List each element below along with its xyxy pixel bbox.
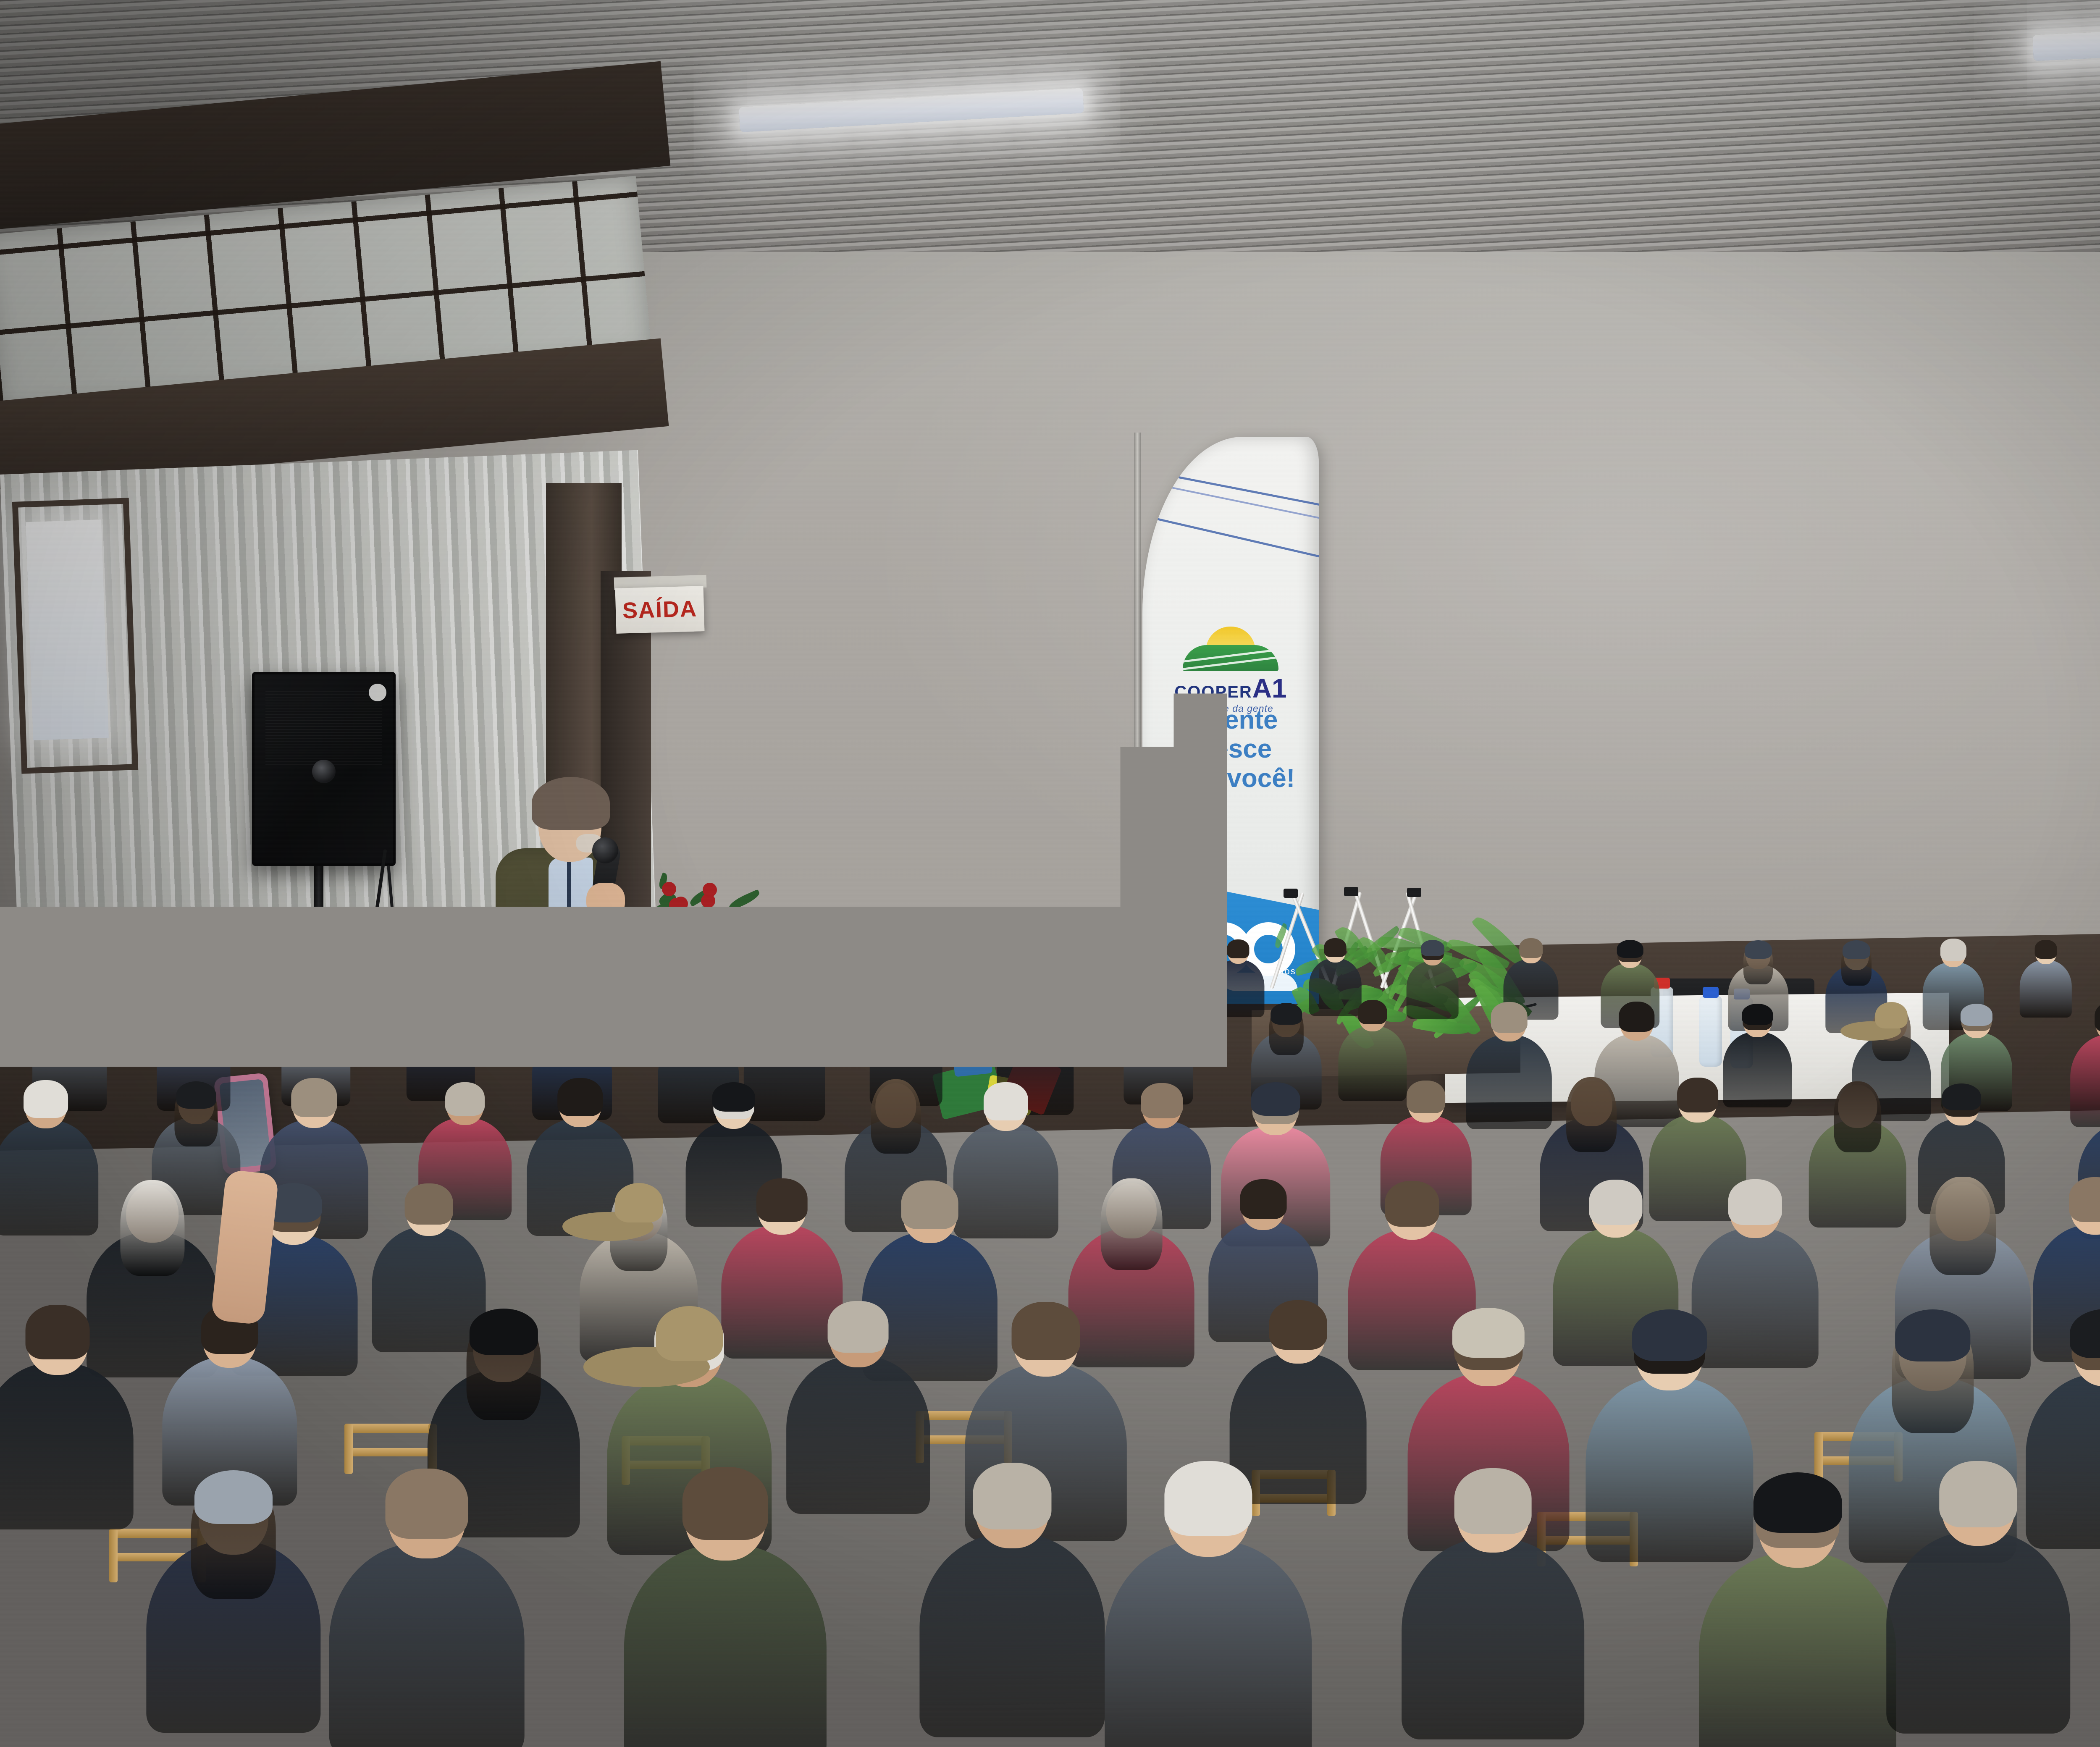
audience-hair[interactable] (422, 939, 449, 962)
audience-hair[interactable] (1940, 939, 1966, 961)
speaker-badge (369, 684, 386, 701)
audience-hair[interactable] (1407, 1081, 1445, 1113)
baseball-cap[interactable] (1745, 940, 1772, 959)
shirt-crest-icon[interactable] (1735, 707, 1746, 713)
baseball-cap[interactable] (1617, 940, 1643, 958)
audience-member[interactable] (2020, 941, 2072, 1022)
audience-hair[interactable] (323, 940, 346, 960)
audience-member[interactable] (329, 1473, 525, 1747)
audience-hair[interactable] (426, 1000, 455, 1025)
audience-member[interactable] (1402, 1472, 1585, 1747)
member-hair[interactable] (1718, 658, 1743, 674)
rose-bloom[interactable] (669, 898, 683, 912)
audience-hair[interactable] (1240, 1179, 1286, 1219)
audience-torso[interactable] (1886, 1532, 2070, 1734)
audience-hair[interactable] (901, 1180, 959, 1229)
hill-field-icon (1183, 645, 1278, 671)
audience-member[interactable] (624, 1472, 827, 1747)
audience-hair[interactable] (1589, 1180, 1642, 1225)
audience-hair[interactable] (1227, 939, 1249, 958)
pa-speaker-icon (252, 672, 396, 866)
audience-hair[interactable] (120, 1180, 184, 1276)
member-trousers[interactable] (1712, 758, 1751, 778)
slide-body-text: O conselho de Administração é orgão supe… (2022, 356, 2100, 492)
frame-joint[interactable] (1284, 889, 1298, 898)
audience-hair[interactable] (1454, 1468, 1532, 1534)
audience-torso[interactable] (1406, 961, 1459, 1019)
member-trousers[interactable] (2092, 757, 2100, 776)
chair-rail[interactable] (344, 1424, 437, 1433)
audience-hair[interactable] (2035, 940, 2057, 959)
baseball-cap[interactable] (712, 1082, 756, 1112)
member-shirt[interactable] (1750, 666, 1805, 758)
audience-hair[interactable] (1491, 1002, 1528, 1033)
baseball-cap[interactable] (516, 939, 541, 956)
audience-hair[interactable] (973, 1463, 1051, 1529)
frame-joint[interactable] (1407, 888, 1421, 897)
banner-slogan: A gente cresce com você! (1142, 706, 1319, 793)
audience-hair[interactable] (26, 1305, 90, 1359)
speaker-grille (265, 690, 382, 765)
audience-hair[interactable] (2095, 1002, 2100, 1032)
audience-hair[interactable] (1939, 1461, 2017, 1527)
audience-hair[interactable] (1324, 938, 1347, 957)
audience-hair[interactable] (1269, 1300, 1327, 1350)
audience-hair[interactable] (555, 1002, 589, 1031)
audience-hair[interactable] (1141, 1083, 1183, 1119)
audience-hair[interactable] (445, 1082, 485, 1116)
audience-member[interactable] (1466, 1004, 1552, 1136)
slogan-line-1: A gente (1142, 706, 1319, 734)
audience-hair[interactable] (679, 1002, 718, 1061)
audience-torso[interactable] (0, 1120, 98, 1235)
audience-hair[interactable] (871, 1079, 921, 1154)
audience-hair[interactable] (226, 939, 257, 986)
board-member[interactable] (2084, 650, 2100, 776)
audience-torso[interactable] (2020, 960, 2072, 1018)
baseball-cap[interactable] (300, 1002, 331, 1023)
audience-hair[interactable] (1566, 1077, 1617, 1152)
audience-hair[interactable] (1728, 1179, 1782, 1225)
boardroom-meeting-icon (1588, 359, 1623, 395)
banner-swoosh (1142, 509, 1319, 564)
board-group-photo-right (1995, 477, 2100, 776)
baseball-cap[interactable] (1942, 1083, 1981, 1110)
audience-hair[interactable] (24, 1080, 68, 1118)
wooden-chair[interactable] (344, 1424, 437, 1474)
audience-hair[interactable] (1012, 1302, 1080, 1360)
audience-hair[interactable] (1032, 936, 1060, 978)
slide-left-panel: CONSELHO DE ADMINISTRAÇÃO 2024/2028 (1573, 331, 1999, 778)
member-trousers[interactable] (1757, 755, 1799, 778)
cooper-a1-logo: COOPERA1 faz parte da gente (1142, 627, 1319, 714)
table-icon (1596, 378, 1614, 389)
brand-name: COOPER (1174, 683, 1252, 701)
figure-head-icon (1602, 363, 1609, 371)
baseball-cap[interactable] (1632, 1309, 1707, 1361)
window-frame (12, 498, 138, 774)
audience-hair[interactable] (178, 1002, 209, 1028)
audience-hair[interactable] (1019, 1001, 1052, 1029)
audience-hair[interactable] (1144, 1001, 1173, 1026)
audience-hair[interactable] (2069, 1177, 2100, 1222)
audience-hair[interactable] (1619, 1002, 1654, 1032)
rose-bloom[interactable] (662, 882, 676, 896)
member-hair[interactable] (1593, 687, 1612, 699)
member-hair[interactable] (2014, 642, 2043, 659)
baseball-cap[interactable] (129, 939, 157, 958)
hat-crown[interactable] (811, 940, 835, 960)
chair-rail[interactable] (344, 1448, 437, 1456)
slogan-line-2: cresce (1142, 734, 1319, 763)
audience-member[interactable] (1699, 1481, 1896, 1747)
audience-torso[interactable] (0, 957, 37, 1015)
figure-head-icon (1592, 370, 1598, 376)
baseball-cap[interactable] (1961, 1004, 1992, 1026)
baseball-cap[interactable] (1753, 1472, 1842, 1533)
audience-member[interactable] (1886, 1465, 2070, 1747)
audience-member[interactable] (1105, 1466, 1312, 1747)
audience-torso[interactable] (624, 1545, 827, 1747)
brand-wordmark: COOPERA1 (1142, 673, 1319, 704)
rose-bloom[interactable] (703, 883, 717, 897)
audience-hair[interactable] (1930, 1177, 1996, 1275)
audience-torso[interactable] (919, 1534, 1105, 1737)
baseball-cap[interactable] (1251, 1082, 1300, 1116)
audience-hair[interactable] (0, 937, 22, 956)
baseball-cap[interactable] (712, 940, 740, 959)
slogan-line-3: com você! (1142, 764, 1319, 793)
audience-hair[interactable] (767, 1000, 801, 1029)
audience-hair[interactable] (54, 1000, 85, 1027)
audience-hair[interactable] (1164, 1461, 1252, 1536)
baseball-cap[interactable] (1452, 1308, 1525, 1358)
slide-right-panel: O conselho de Administração é orgão supe… (1993, 324, 2100, 776)
member-hair[interactable] (1625, 682, 1645, 695)
audience-hair[interactable] (291, 1078, 337, 1117)
hat-crown[interactable] (656, 1306, 723, 1361)
microphone-head-icon[interactable] (592, 837, 618, 863)
audience-hair[interactable] (1677, 1078, 1718, 1112)
audience-torso[interactable] (1402, 1538, 1585, 1739)
audience-member[interactable] (0, 1308, 134, 1541)
shirt-crest-icon[interactable] (2034, 697, 2045, 703)
audience-hair[interactable] (937, 936, 969, 984)
audience-hair[interactable] (386, 1469, 468, 1539)
audience-member[interactable] (0, 1082, 98, 1243)
presenter-hair[interactable] (532, 777, 610, 830)
shirt-crest-icon[interactable] (1867, 687, 1878, 693)
figure-head-icon (1613, 370, 1619, 375)
audience-member[interactable] (1809, 1085, 1907, 1235)
baseball-cap[interactable] (1421, 940, 1444, 956)
audience-hair[interactable] (616, 939, 641, 961)
baseball-cap[interactable] (470, 1309, 538, 1356)
audience-hair[interactable] (756, 1178, 808, 1222)
baseball-cap[interactable] (194, 1470, 273, 1524)
speaker-woofer (312, 760, 336, 783)
audience-hair[interactable] (682, 1467, 768, 1540)
audience-hair[interactable] (1385, 1181, 1439, 1227)
audience-hair[interactable] (405, 1183, 453, 1225)
member-shirt[interactable] (1830, 648, 1894, 755)
audience-torso[interactable] (1105, 1540, 1312, 1747)
chair-post[interactable] (1814, 1432, 1823, 1482)
audience-hair[interactable] (1834, 1081, 1881, 1152)
board-member[interactable] (1827, 609, 1896, 777)
baseball-cap[interactable] (176, 1081, 216, 1109)
shirt-crest-icon[interactable] (1782, 699, 1793, 705)
board-group-photo (1575, 482, 1999, 778)
member-hair[interactable] (2097, 661, 2100, 675)
member-trousers[interactable] (1838, 751, 1887, 777)
audience-torso[interactable] (1699, 1552, 1896, 1747)
frame-joint[interactable] (1344, 887, 1358, 896)
audience-hair[interactable] (984, 1082, 1028, 1120)
chair-post[interactable] (344, 1424, 353, 1474)
audience-member[interactable] (146, 1478, 320, 1747)
audience-hair[interactable] (1101, 1178, 1163, 1270)
presentation-hall-photo: SAÍDA COOPERA1 faz parte da gente A gent… (0, 0, 2100, 1747)
member-hair[interactable] (2058, 651, 2084, 667)
exit-sign-label: SAÍDA (622, 596, 698, 624)
audience-hair[interactable] (891, 999, 921, 1025)
audience-member[interactable] (919, 1467, 1105, 1747)
baseball-cap[interactable] (1270, 1003, 1302, 1025)
baseball-cap[interactable] (1843, 940, 1870, 959)
exit-sign: SAÍDA (615, 586, 705, 634)
member-hair[interactable] (1763, 645, 1791, 661)
member-hair[interactable] (1845, 624, 1877, 643)
audience-hair[interactable] (1520, 938, 1543, 958)
hat-crown[interactable] (1875, 1002, 1908, 1028)
audience (0, 915, 2100, 1747)
projection-screen: CONSELHO DE ADMINISTRAÇÃO 2024/2028 O co… (1573, 324, 2100, 779)
brand-accent: A1 (1252, 673, 1287, 703)
hat-crown[interactable] (614, 1183, 663, 1222)
audience-hair[interactable] (557, 1078, 602, 1116)
audience-torso[interactable] (0, 1363, 134, 1529)
baseball-cap[interactable] (1895, 1309, 1970, 1361)
baseball-cap[interactable] (2070, 1309, 2100, 1358)
audience-hair[interactable] (828, 1301, 889, 1353)
audience-torso[interactable] (329, 1543, 525, 1747)
audience-member[interactable] (1406, 942, 1459, 1023)
presenter-hand[interactable] (586, 883, 625, 919)
baseball-cap[interactable] (1742, 1004, 1773, 1025)
member-trousers[interactable] (1588, 763, 1617, 779)
audience-hair[interactable] (1358, 1000, 1387, 1025)
audience-torso[interactable] (1466, 1035, 1552, 1129)
member-shirt[interactable] (2086, 679, 2100, 760)
board-member[interactable] (1748, 632, 1807, 778)
baseball-cap[interactable] (1130, 941, 1155, 957)
audience-member[interactable] (0, 938, 37, 1018)
